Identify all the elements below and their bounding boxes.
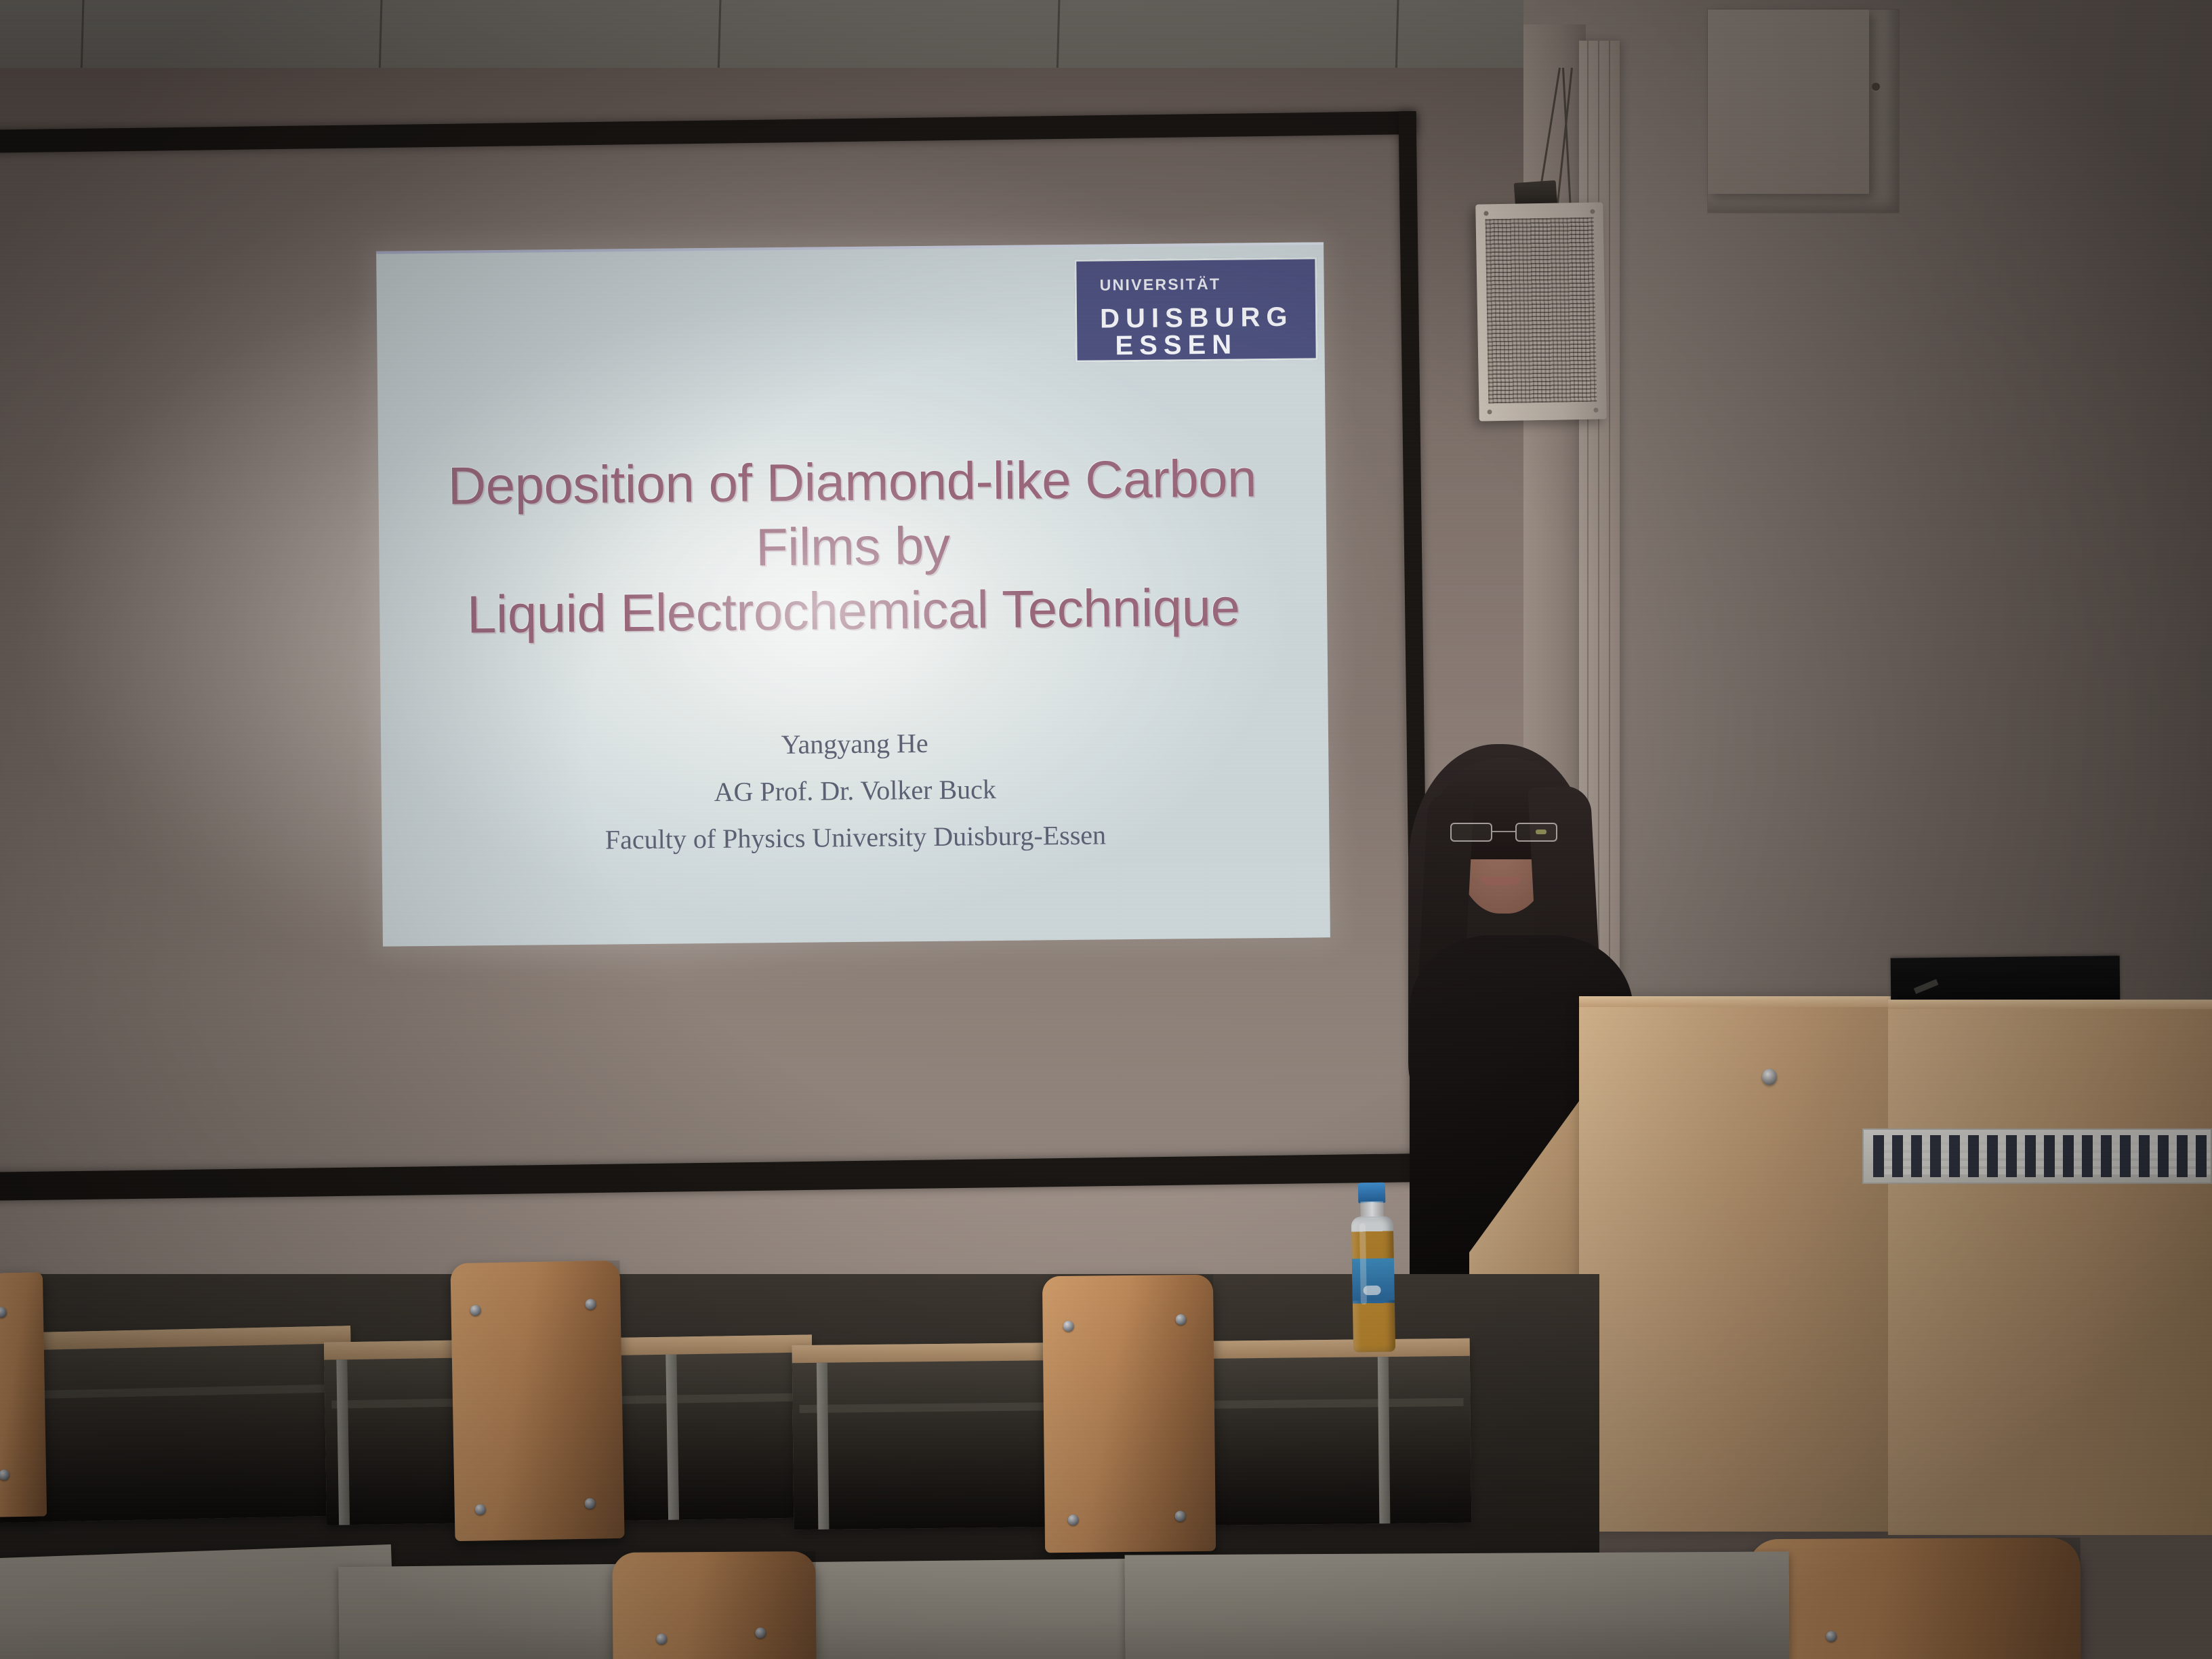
monitor-behind-lectern (1891, 956, 2121, 1004)
slide-title-line-1: Deposition of Diamond-like Carbon Films … (447, 448, 1256, 577)
ventilation-grille (1862, 1128, 2212, 1184)
foreground-desk-left (0, 1544, 395, 1659)
speaker-grille-icon (1486, 218, 1597, 404)
vent-slots-icon (1873, 1135, 2211, 1177)
ceiling (0, 0, 1694, 76)
chair-foreground-center[interactable] (612, 1551, 816, 1659)
slide-title-line-2: Liquid Electrochemical Technique (380, 575, 1328, 649)
chair-back-1[interactable] (450, 1261, 624, 1541)
lecture-hall-scene: UNIVERSITÄT DUISBURG ESSEN Deposition of… (0, 0, 2212, 1659)
projected-slide: UNIVERSITÄT DUISBURG ESSEN Deposition of… (376, 242, 1330, 946)
slide-author-block: Yangyang He AG Prof. Dr. Volker Buck Fac… (381, 716, 1330, 865)
lectern (1579, 996, 1891, 1532)
presenter-smile (1481, 877, 1521, 885)
wall-mounted-pa-speaker (1475, 202, 1607, 421)
foreground-desk-right (1125, 1551, 1790, 1659)
bottle-cap (1358, 1183, 1386, 1204)
chair-back-left[interactable] (0, 1272, 47, 1517)
lectern-lock-icon[interactable] (1762, 1069, 1777, 1085)
slide-title: Deposition of Diamond-like Carbon Films … (378, 445, 1328, 648)
university-logo: UNIVERSITÄT DUISBURG ESSEN (1074, 257, 1317, 362)
lectern-top-edge (1579, 996, 1891, 1007)
wooden-cabinet-desk (1888, 1000, 2212, 1535)
bottle-label (1352, 1258, 1395, 1300)
chair-foreground-right[interactable] (1748, 1538, 2081, 1659)
recessed-wall-access-panel (1708, 9, 1899, 213)
presenter-glasses-icon (1450, 823, 1557, 843)
desk-row-left (0, 1326, 354, 1523)
panel-screw-icon (1872, 83, 1880, 91)
cabinet-top-edge (1888, 1000, 2212, 1009)
logo-line-universitat: UNIVERSITÄT (1100, 274, 1315, 294)
water-bottle[interactable] (1351, 1182, 1395, 1352)
chair-back-2[interactable] (1042, 1275, 1216, 1553)
wall-panel-face (1708, 9, 1869, 194)
monitor-glint (1914, 979, 1939, 994)
logo-line-essen: ESSEN (1100, 329, 1315, 361)
slide-affiliation: Faculty of Physics University Duisburg-E… (382, 810, 1330, 865)
